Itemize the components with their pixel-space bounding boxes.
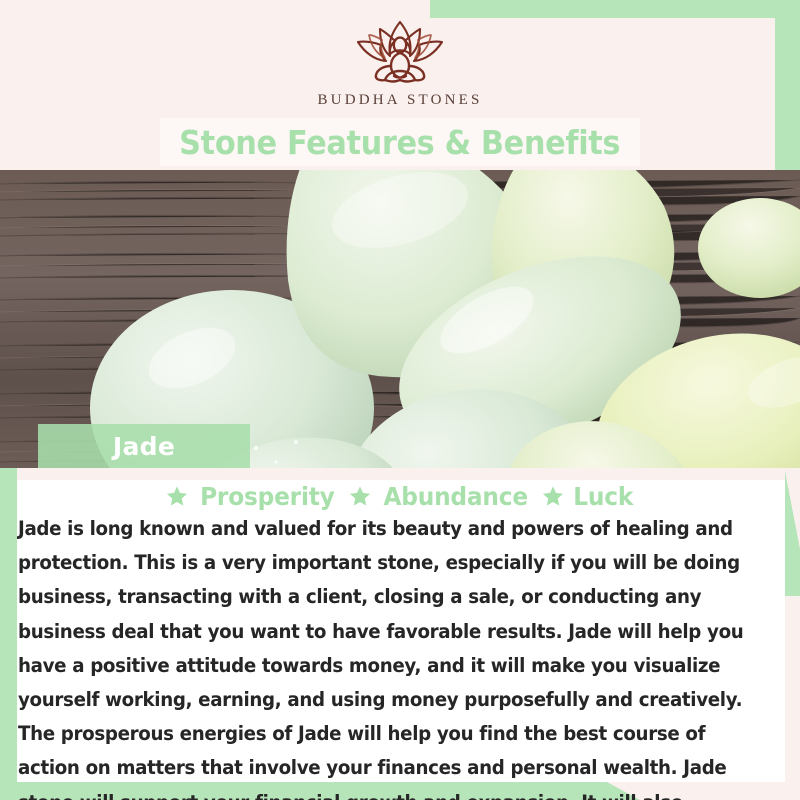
title-banner: Stone Features & Benefits (160, 118, 640, 166)
panel-top-gap (17, 468, 785, 480)
keyword-item-0: Prosperity (166, 482, 340, 511)
keyword-label-0: Prosperity (200, 482, 335, 511)
decor-band-left-lower (0, 455, 17, 785)
brand-logo: BUDDHA STONES (0, 16, 800, 109)
stone-name-label: Jade (113, 432, 175, 461)
stone-info-card: BUDDHA STONES Stone Features & Benefits (0, 0, 800, 800)
page-title: Stone Features & Benefits (180, 123, 621, 162)
keyword-label-1: Abundance (383, 482, 528, 511)
keyword-label-2: Luck (574, 482, 634, 511)
keyword-item-2: Luck (542, 482, 635, 511)
star-icon (542, 485, 564, 507)
keyword-item-1: Abundance (349, 482, 533, 511)
lotus-meditation-icon (325, 16, 475, 88)
benefit-keywords: Prosperity Abundance Luck (17, 480, 785, 512)
stone-description: Jade is long known and valued for its be… (18, 512, 755, 800)
star-icon (166, 485, 188, 507)
stone-name-band: Jade (38, 424, 250, 468)
brand-wordmark: BUDDHA STONES (0, 92, 800, 109)
star-icon (349, 485, 371, 507)
